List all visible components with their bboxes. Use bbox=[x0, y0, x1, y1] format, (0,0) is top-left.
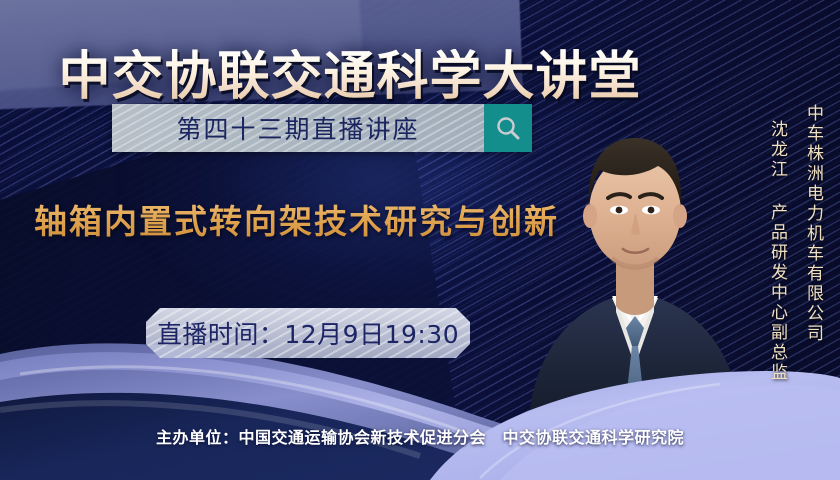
lecture-title: 轴箱内置式转向架技术研究与创新 bbox=[34, 195, 559, 243]
live-time-badge: 直播时间：12月9日19:30 bbox=[146, 308, 470, 358]
episode-banner: 第四十三期直播讲座 bbox=[112, 104, 532, 152]
search-icon[interactable] bbox=[484, 104, 532, 152]
live-lecture-poster: 中交协联交通科学大讲堂 第四十三期直播讲座 轴箱内置式转向架技术研究与创新 直播… bbox=[0, 0, 840, 480]
episode-label: 第四十三期直播讲座 bbox=[176, 110, 419, 146]
page-title: 中交协联交通科学大讲堂 bbox=[0, 49, 700, 105]
live-time-label: 直播时间：12月9日19:30 bbox=[157, 315, 459, 351]
speaker-name-role: 沈龙江 产品研发中心副总监 bbox=[765, 120, 790, 383]
organizer-footer: 主办单位：中国交通运输协会新技术促进分会 中交协联交通科学研究院 bbox=[0, 424, 840, 448]
speaker-company: 中车株洲电力机车有限公司 bbox=[801, 104, 826, 344]
episode-banner-body: 第四十三期直播讲座 bbox=[112, 104, 484, 152]
